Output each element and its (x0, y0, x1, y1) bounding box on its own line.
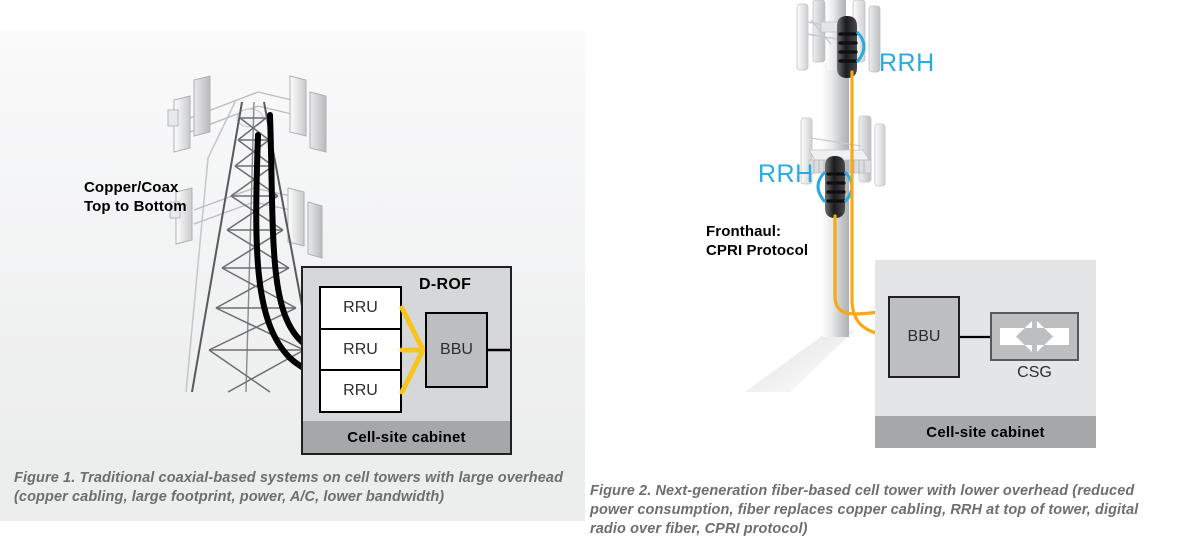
csg-box (990, 312, 1079, 361)
csg-label: CSG (990, 364, 1079, 382)
rrh-label-mid: RRH (758, 160, 814, 189)
rrh-label-top: RRH (879, 49, 935, 78)
copper-coax-label-line1: Copper/Coax (84, 178, 187, 197)
bidirectional-arrows-icon (992, 314, 1077, 359)
copper-coax-label: Copper/Coax Top to Bottom (84, 178, 187, 216)
cell-site-cabinet-figure1: D-ROF RRU RRU RRU BBU Cell-site cabinet (301, 266, 512, 455)
fronthaul-label-line2: CPRI Protocol (706, 241, 808, 260)
fronthaul-label-line1: Fronthaul: (706, 222, 808, 241)
copper-coax-label-line2: Top to Bottom (84, 197, 187, 216)
cell-site-cabinet-figure2: BBU CSG Cell-site cabinet (875, 260, 1096, 448)
antenna-panel-group-lower (170, 188, 322, 258)
figure1-caption: Figure 1. Traditional coaxial-based syst… (14, 469, 574, 507)
cell-site-cabinet-label-figure1: Cell-site cabinet (303, 421, 510, 453)
figure2-caption: Figure 2. Next-generation fiber-based ce… (590, 482, 1175, 539)
cell-site-cabinet-label-figure2: Cell-site cabinet (875, 416, 1096, 448)
fronthaul-cpri-label: Fronthaul: CPRI Protocol (706, 222, 808, 260)
